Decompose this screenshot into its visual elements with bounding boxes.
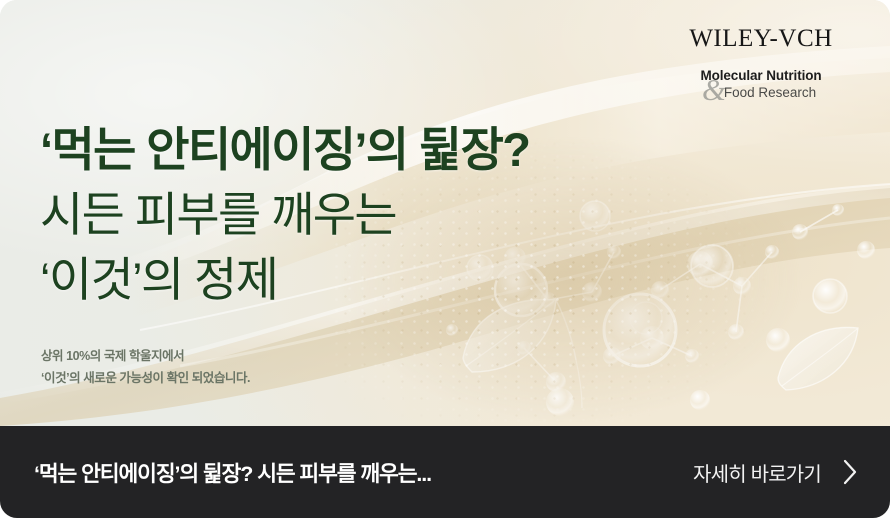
wiley-vch-wordmark: WILEY-VCH [666,26,856,51]
subtitle-line-1: 상위 10%의 국제 학울지에서 [41,346,250,368]
journal-logo: & Molecular Nutrition Food Research [666,68,856,102]
headline-line-2: 시든 피부를 깨우는 [40,191,529,238]
headline-line-1: ‘먹는 안티에이징’의 뒱장? [40,126,529,173]
chevron-right-icon [843,459,858,485]
headline-line-3: ‘이것’의 정제 [40,256,529,303]
page-title: ‘먹는 안티에이징’의 뒱장? 시든 피부를 깨우는 ‘이것’의 정제 [40,126,529,303]
subtitle-block: 상위 10%의 국제 학울지에서 ‘이것’의 새로운 가능성이 확인 되었습니다… [41,346,250,390]
journal-name-line-2: Food Research [666,85,856,102]
footer-article-title[interactable]: ‘먹는 안티에이징’의 뒱장? 시든 피부를 깨우는... [34,457,431,488]
journal-name-line-1: Molecular Nutrition [666,68,856,85]
footer-bar: ‘먹는 안티에이징’의 뒱장? 시든 피부를 깨우는... 자세히 바로가기 [0,426,890,518]
promo-banner-card[interactable]: WILEY-VCH & Molecular Nutrition Food Res… [0,0,890,518]
hero-image-region: WILEY-VCH & Molecular Nutrition Food Res… [0,0,890,426]
publisher-logo-block: WILEY-VCH & Molecular Nutrition Food Res… [666,26,856,102]
subtitle-line-2: ‘이것’의 새로운 가능성이 확인 되었습니다. [41,368,250,390]
view-details-label: 자세히 바로가기 [693,458,821,487]
view-details-button[interactable]: 자세히 바로가기 [693,458,858,487]
